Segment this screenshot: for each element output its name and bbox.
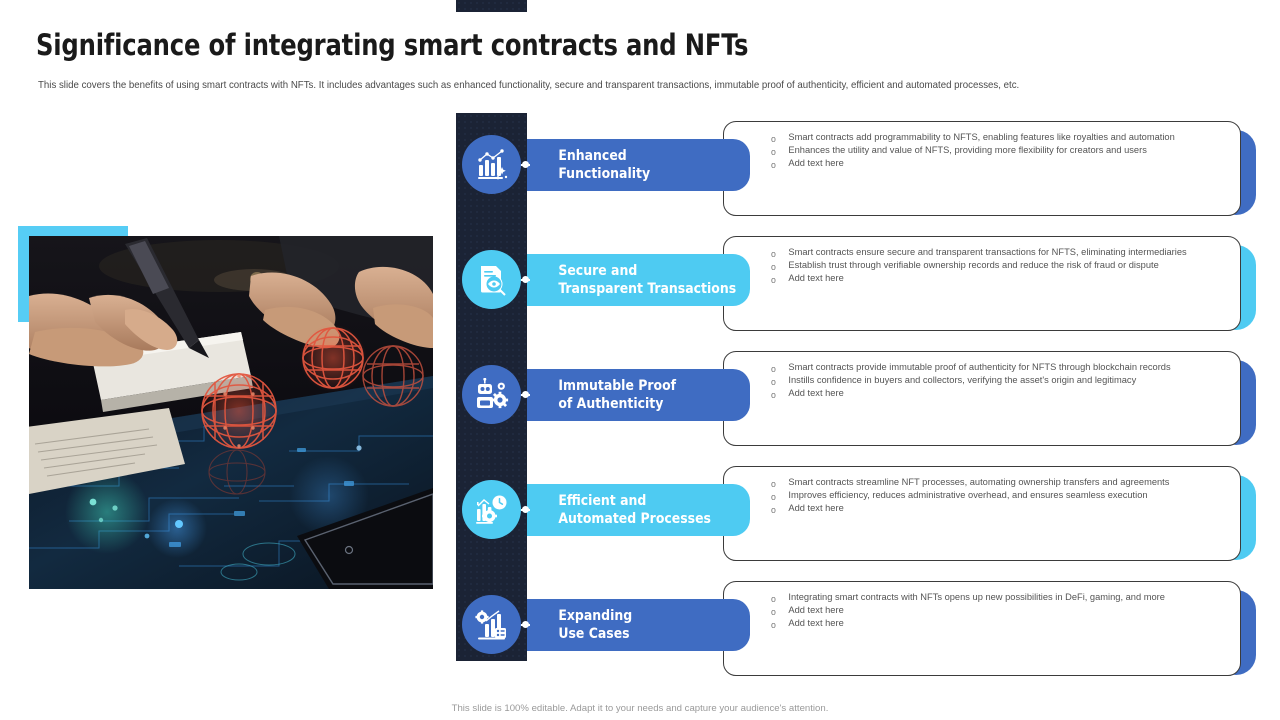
bullet-marker: o — [771, 504, 776, 516]
bullet-item: oImproves efficiency, reduces administra… — [769, 490, 1215, 502]
bullet-marker: o — [771, 146, 776, 158]
benefit-icon-circle — [462, 250, 521, 309]
bullet-list: oSmart contracts ensure secure and trans… — [769, 247, 1229, 287]
photo-illustration — [29, 236, 433, 589]
benefit-tab[interactable]: Efficient and Automated Processes — [527, 484, 750, 536]
bullet-marker: o — [771, 593, 776, 605]
bullet-list: oIntegrating smart contracts with NFTs o… — [769, 592, 1229, 632]
bullet-marker: o — [771, 261, 776, 273]
bullet-marker: o — [771, 248, 776, 260]
bullet-marker: o — [771, 376, 776, 388]
document-magnifier-icon — [475, 263, 509, 297]
page-title: Significance of integrating smart contra… — [36, 28, 748, 62]
bullet-item: oIntegrating smart contracts with NFTs o… — [769, 592, 1215, 604]
benefit-card: oSmart contracts streamline NFT processe… — [723, 466, 1241, 561]
bullet-marker: o — [771, 159, 776, 171]
bullet-item: oAdd text here — [769, 605, 1215, 617]
bullet-item: oSmart contracts provide immutable proof… — [769, 362, 1215, 374]
connector-dot — [522, 391, 529, 398]
bullet-item: oSmart contracts streamline NFT processe… — [769, 477, 1215, 489]
bullet-item: oAdd text here — [769, 388, 1215, 400]
benefit-icon-circle — [462, 135, 521, 194]
bullet-marker: o — [771, 274, 776, 286]
benefit-icon-circle — [462, 365, 521, 424]
bullet-marker: o — [771, 606, 776, 618]
connector-dot — [522, 161, 529, 168]
growth-chart-gear-icon — [475, 608, 509, 642]
bar-chart-sparkle-icon — [475, 148, 509, 182]
footer-note: This slide is 100% editable. Adapt it to… — [0, 703, 1280, 714]
robot-gears-icon — [475, 378, 509, 412]
bullet-item: oAdd text here — [769, 273, 1215, 285]
benefit-tab-label: Immutable Proof of Authenticity — [527, 377, 676, 413]
benefit-icon-circle — [462, 480, 521, 539]
bullet-item: oSmart contracts ensure secure and trans… — [769, 247, 1215, 259]
benefit-tab[interactable]: Expanding Use Cases — [527, 599, 750, 651]
benefit-tab[interactable]: Immutable Proof of Authenticity — [527, 369, 750, 421]
blockchain-photo — [29, 236, 433, 589]
benefit-tab-label: Efficient and Automated Processes — [527, 492, 711, 528]
benefit-card: oSmart contracts provide immutable proof… — [723, 351, 1241, 446]
benefit-tab-label: Enhanced Functionality — [527, 147, 650, 183]
top-accent-bar — [456, 0, 527, 12]
bullet-item: oAdd text here — [769, 158, 1215, 170]
bullet-list: oSmart contracts provide immutable proof… — [769, 362, 1229, 402]
bullet-marker: o — [771, 389, 776, 401]
benefit-card: oSmart contracts add programmability to … — [723, 121, 1241, 216]
bullet-item: oInstills confidence in buyers and colle… — [769, 375, 1215, 387]
bullet-marker: o — [771, 363, 776, 375]
bullet-marker: o — [771, 133, 776, 145]
benefit-tab[interactable]: Secure and Transparent Transactions — [527, 254, 750, 306]
bullet-marker: o — [771, 619, 776, 631]
bullet-item: oAdd text here — [769, 503, 1215, 515]
bullet-marker: o — [771, 491, 776, 503]
bullet-item: oEstablish trust through verifiable owne… — [769, 260, 1215, 272]
connector-dot — [522, 506, 529, 513]
benefit-tab-label: Secure and Transparent Transactions — [527, 262, 736, 298]
bullet-item: oEnhances the utility and value of NFTS,… — [769, 145, 1215, 157]
bullet-marker: o — [771, 478, 776, 490]
benefit-card: oIntegrating smart contracts with NFTs o… — [723, 581, 1241, 676]
benefit-tab[interactable]: Enhanced Functionality — [527, 139, 750, 191]
bullet-list: oSmart contracts add programmability to … — [769, 132, 1229, 172]
bullet-item: oAdd text here — [769, 618, 1215, 630]
benefit-icon-circle — [462, 595, 521, 654]
bullet-list: oSmart contracts streamline NFT processe… — [769, 477, 1229, 517]
page-subtitle: This slide covers the benefits of using … — [38, 79, 1131, 93]
connector-dot — [522, 621, 529, 628]
benefit-tab-label: Expanding Use Cases — [527, 607, 632, 643]
bullet-item: oSmart contracts add programmability to … — [769, 132, 1215, 144]
connector-dot — [522, 276, 529, 283]
benefit-card: oSmart contracts ensure secure and trans… — [723, 236, 1241, 331]
chart-clock-gear-icon — [475, 493, 509, 527]
